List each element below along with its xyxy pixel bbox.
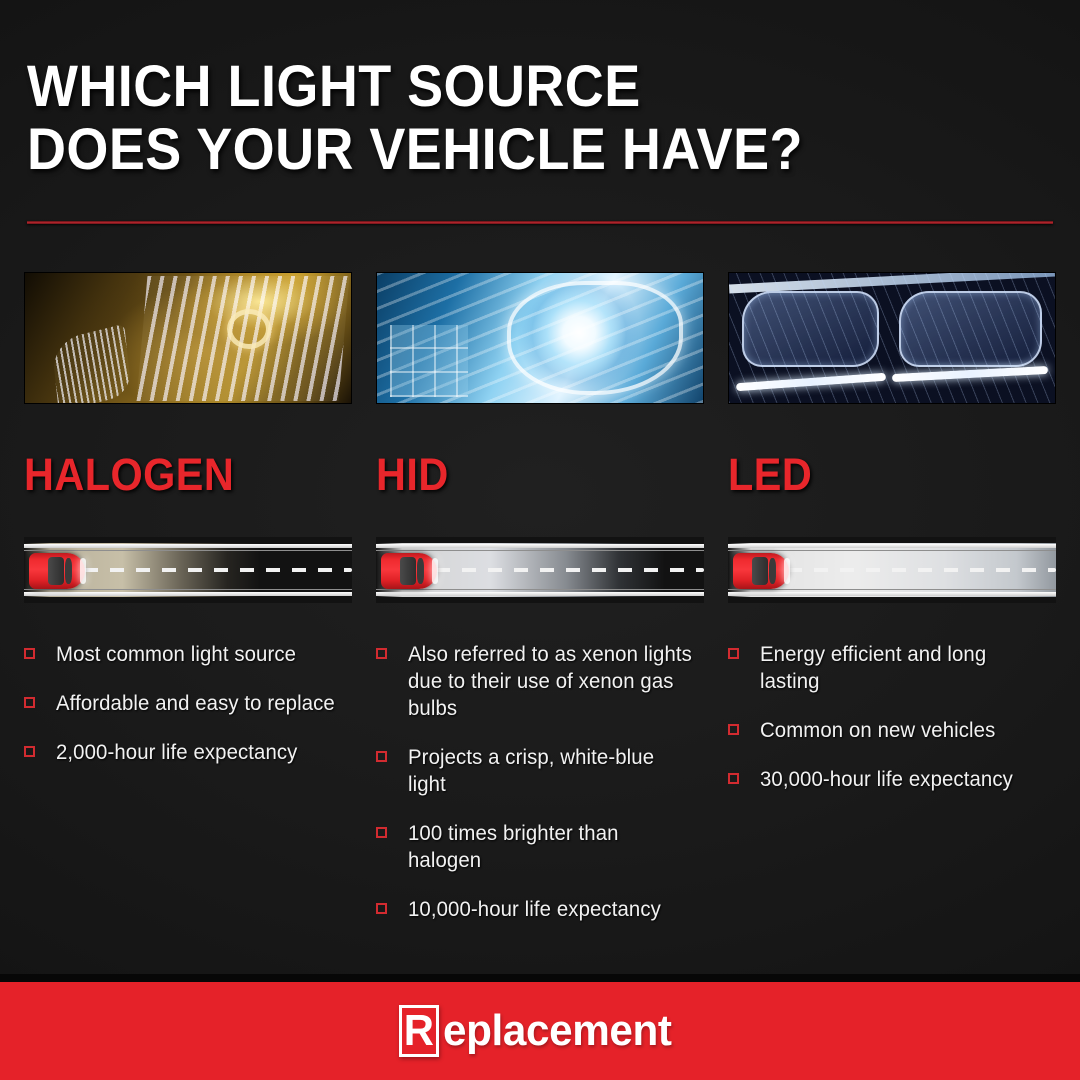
list-item: 10,000-hour life expectancy — [376, 896, 704, 923]
bullet-label: 100 times brighter than halogen — [408, 820, 695, 874]
bullet-square-icon — [376, 903, 387, 914]
column-led: LED Energy efficient and long lasting — [728, 272, 1056, 945]
bullet-square-icon — [24, 697, 35, 708]
bullet-square-icon — [376, 827, 387, 838]
page-title: WHICH LIGHT SOURCE DOES YOUR VEHICLE HAV… — [27, 55, 1053, 181]
road-center-dashes — [436, 568, 704, 572]
bullet-square-icon — [376, 751, 387, 762]
title-divider — [27, 221, 1053, 224]
car-icon — [381, 553, 437, 589]
bullet-square-icon — [728, 773, 739, 784]
list-item: Common on new vehicles — [728, 717, 1056, 744]
road-edge-bottom — [24, 592, 352, 596]
road-edge-bottom — [376, 592, 704, 596]
replacement-logo[interactable]: R eplacement — [399, 1005, 681, 1057]
heading-hid: HID — [376, 452, 678, 497]
bullet-label: Common on new vehicles — [760, 717, 995, 744]
halogen-beam-road-illustration — [24, 537, 352, 603]
bullet-square-icon — [376, 648, 387, 659]
hid-lens-grid — [390, 325, 468, 397]
bullet-label: 10,000-hour life expectancy — [408, 896, 661, 923]
hid-beam-road-illustration — [376, 537, 704, 603]
list-item: 100 times brighter than halogen — [376, 820, 704, 874]
heading-halogen: HALOGEN — [24, 452, 326, 497]
bullet-label: 2,000-hour life expectancy — [56, 739, 297, 766]
hid-headlight-photo — [376, 272, 704, 404]
logo-r-letter: R — [404, 1009, 434, 1053]
list-item: 30,000-hour life expectancy — [728, 766, 1056, 793]
led-beam-road-illustration — [728, 537, 1056, 603]
logo-wordmark: eplacement — [443, 1006, 672, 1056]
footer-separator — [0, 974, 1080, 982]
title-line-1: WHICH LIGHT SOURCE — [27, 55, 981, 118]
infographic-page: WHICH LIGHT SOURCE DOES YOUR VEHICLE HAV… — [0, 0, 1080, 1080]
bullet-label: Affordable and easy to replace — [56, 690, 335, 717]
list-item: Affordable and easy to replace — [24, 690, 352, 717]
list-item: Also referred to as xenon lights due to … — [376, 641, 704, 722]
bullet-label: Energy efficient and long lasting — [760, 641, 1047, 695]
bullet-label: Also referred to as xenon lights due to … — [408, 641, 695, 722]
list-item: Projects a crisp, white-blue light — [376, 744, 704, 798]
car-icon — [733, 553, 789, 589]
hid-projector-arc — [507, 281, 683, 395]
list-item: 2,000-hour life expectancy — [24, 739, 352, 766]
led-headlight-photo — [728, 272, 1056, 404]
bullets-led: Energy efficient and long lasting Common… — [728, 641, 1056, 793]
bullets-hid: Also referred to as xenon lights due to … — [376, 641, 704, 923]
bullet-square-icon — [728, 648, 739, 659]
title-line-2: DOES YOUR VEHICLE HAVE? — [27, 118, 981, 181]
road-edge-top — [376, 544, 704, 548]
bullet-square-icon — [24, 648, 35, 659]
road-center-dashes — [84, 568, 352, 572]
column-hid: HID Also referred to as xenon lights due… — [376, 272, 704, 945]
bullets-halogen: Most common light source Affordable and … — [24, 641, 352, 766]
road-edge-top — [24, 544, 352, 548]
bullet-square-icon — [728, 724, 739, 735]
column-halogen: HALOGEN Most common light source — [24, 272, 352, 945]
car-icon — [29, 553, 85, 589]
list-item: Most common light source — [24, 641, 352, 668]
halogen-headlight-photo — [24, 272, 352, 404]
bullet-label: Most common light source — [56, 641, 296, 668]
road-edge-bottom — [728, 592, 1056, 596]
heading-led: LED — [728, 452, 1030, 497]
bullet-square-icon — [24, 746, 35, 757]
bullet-label: Projects a crisp, white-blue light — [408, 744, 695, 798]
light-source-columns: HALOGEN Most common light source — [24, 272, 1056, 945]
road-center-dashes — [788, 568, 1056, 572]
road-edge-top — [728, 544, 1056, 548]
logo-r-mark: R — [399, 1005, 439, 1057]
bullet-label: 30,000-hour life expectancy — [760, 766, 1013, 793]
footer-bar: R eplacement — [0, 982, 1080, 1080]
list-item: Energy efficient and long lasting — [728, 641, 1056, 695]
